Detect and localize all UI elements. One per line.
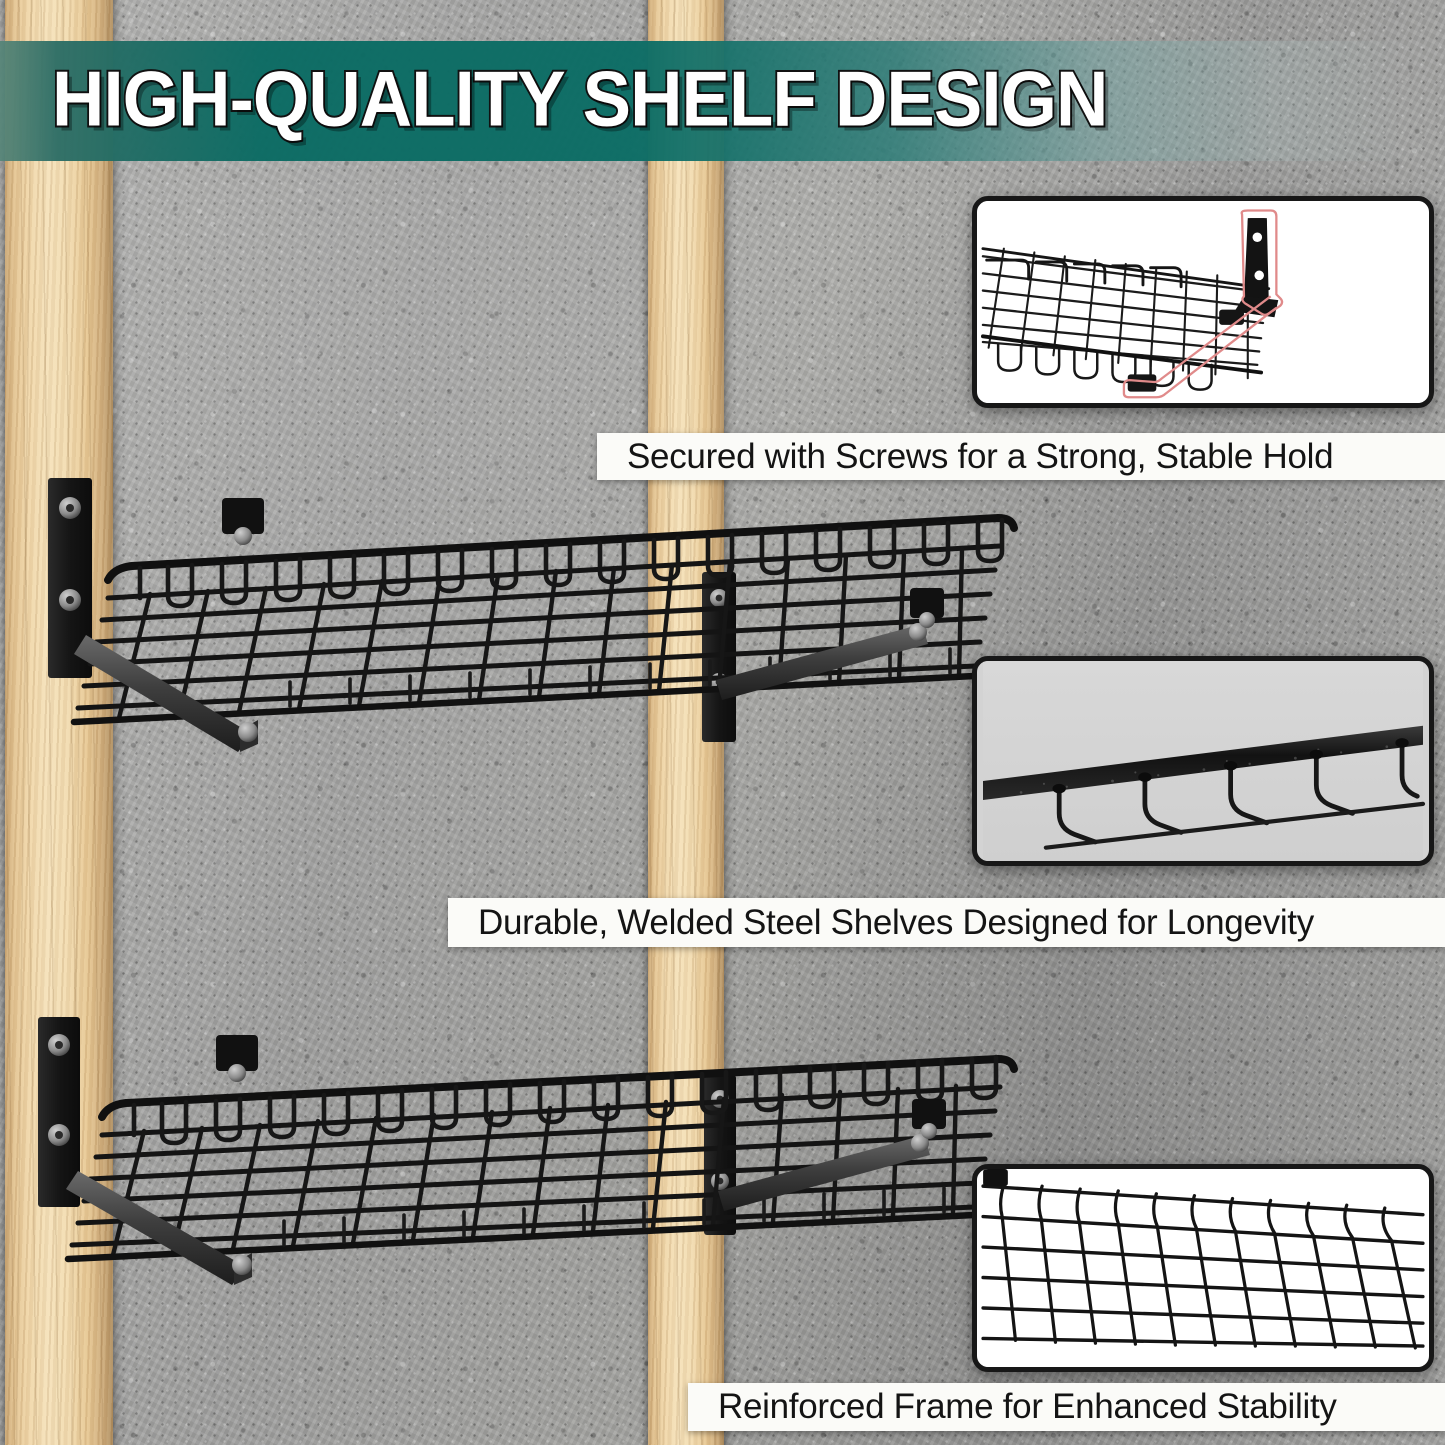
inset-bracket-detail (972, 196, 1434, 408)
product-feature-image: HIGH-QUALITY SHELF DESIGN (0, 0, 1445, 1445)
bracket-tab-left (222, 498, 264, 545)
bracket-tab-left (216, 1035, 258, 1082)
wire-shelf-lower (0, 995, 1023, 1295)
caption-reinforced-frame: Reinforced Frame for Enhanced Stability (688, 1383, 1445, 1431)
wire-shelf-upper (0, 430, 1035, 790)
caption-text: Secured with Screws for a Strong, Stable… (627, 437, 1333, 477)
bracket-tab-right (912, 1099, 946, 1139)
support-arm-left (74, 635, 258, 752)
inset-weld-detail (972, 656, 1434, 866)
inset-frame-detail (972, 1164, 1434, 1372)
caption-durable-welded-steel: Durable, Welded Steel Shelves Designed f… (448, 898, 1445, 947)
caption-text: Durable, Welded Steel Shelves Designed f… (478, 903, 1314, 943)
support-arm-left (66, 1171, 252, 1285)
caption-secured-with-screws: Secured with Screws for a Strong, Stable… (597, 433, 1445, 480)
inset-frame-corner-nub (983, 1169, 1008, 1186)
title-banner: HIGH-QUALITY SHELF DESIGN (0, 41, 1445, 161)
shelf-front-hooks (284, 1188, 944, 1245)
support-arm-right (716, 623, 928, 700)
page-title: HIGH-QUALITY SHELF DESIGN (52, 54, 1108, 145)
caption-text: Reinforced Frame for Enhanced Stability (718, 1387, 1337, 1427)
